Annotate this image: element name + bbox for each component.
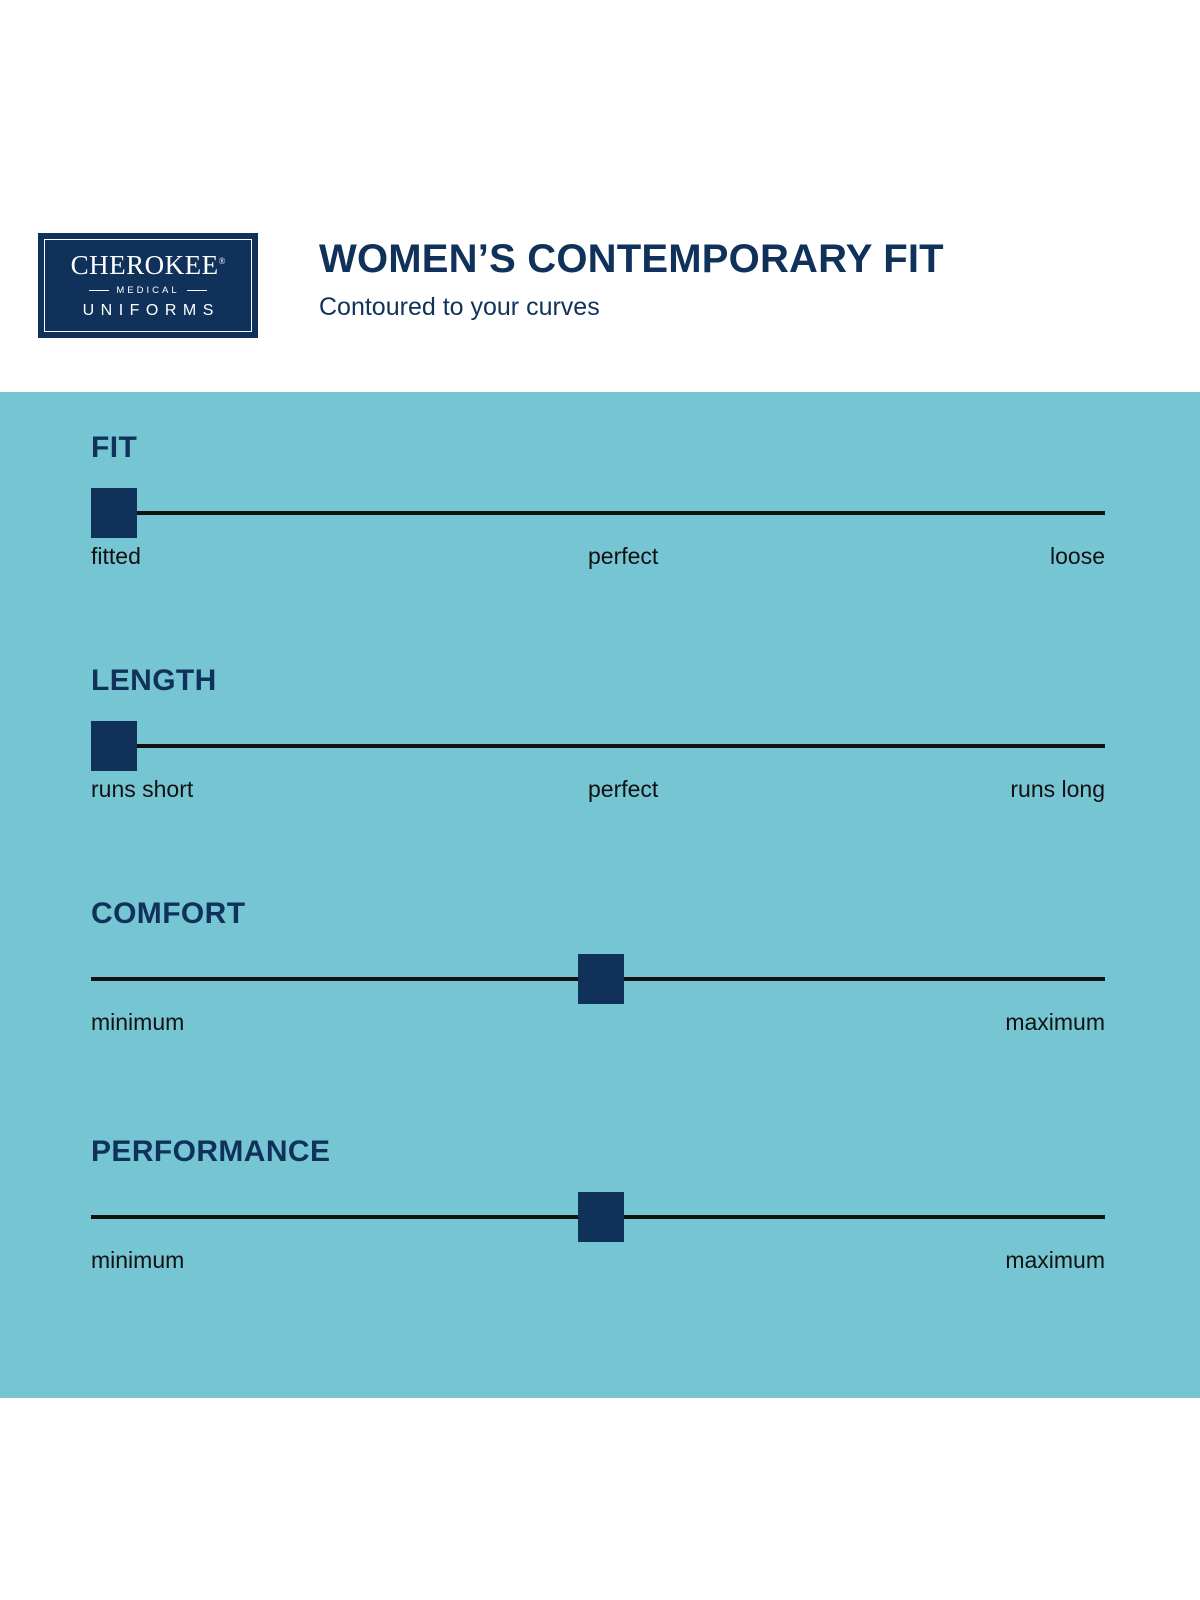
- logo-wordmark: CHEROKEE®: [71, 252, 226, 279]
- scale-label-right-comfort: maximum: [1005, 1009, 1105, 1037]
- scale-label-right-fit: loose: [1050, 543, 1105, 571]
- meter-heading-fit: FIT: [91, 433, 1105, 463]
- meter-heading-length: LENGTH: [91, 666, 1105, 696]
- logo-dash-right-icon: [187, 290, 207, 292]
- scale-label-left-performance: minimum: [91, 1247, 184, 1275]
- meter-comfort: COMFORT minimum maximum: [91, 899, 1105, 1043]
- slider-track-length[interactable]: [137, 744, 1105, 748]
- logo-uniforms-text: UNIFORMS: [76, 303, 220, 319]
- scale-fit: fitted perfect loose: [91, 543, 1105, 577]
- slider-handle-comfort[interactable]: [578, 954, 624, 1004]
- scale-label-right-length: runs long: [1010, 776, 1105, 804]
- slider-handle-fit[interactable]: [91, 488, 137, 538]
- logo-medical-text: MEDICAL: [116, 286, 179, 296]
- scale-comfort: minimum maximum: [91, 1009, 1105, 1043]
- page-subtitle: Contoured to your curves: [319, 294, 1119, 322]
- slider-handle-performance[interactable]: [578, 1192, 624, 1242]
- slider-handle-length[interactable]: [91, 721, 137, 771]
- meter-fit: FIT fitted perfect loose: [91, 433, 1105, 577]
- fit-meters-panel: FIT fitted perfect loose LENGTH runs sho…: [0, 392, 1200, 1398]
- logo-dash-left-icon: [89, 290, 109, 292]
- scale-label-mid-length: perfect: [588, 776, 658, 804]
- logo-medical-row: MEDICAL: [89, 286, 206, 296]
- meter-length: LENGTH runs short perfect runs long: [91, 666, 1105, 810]
- meter-heading-performance: PERFORMANCE: [91, 1137, 1105, 1167]
- scale-label-mid-fit: perfect: [588, 543, 658, 571]
- title-block: WOMEN’S CONTEMPORARY FIT Contoured to yo…: [319, 238, 1119, 322]
- meter-heading-comfort: COMFORT: [91, 899, 1105, 929]
- slider-track-fit[interactable]: [137, 511, 1105, 515]
- page-header: CHEROKEE® MEDICAL UNIFORMS WOMEN’S CONTE…: [0, 0, 1200, 392]
- meter-performance: PERFORMANCE minimum maximum: [91, 1137, 1105, 1281]
- scale-performance: minimum maximum: [91, 1247, 1105, 1281]
- scale-length: runs short perfect runs long: [91, 776, 1105, 810]
- slider-fit[interactable]: [91, 485, 1105, 541]
- slider-comfort[interactable]: [91, 951, 1105, 1007]
- cherokee-logo: CHEROKEE® MEDICAL UNIFORMS: [38, 233, 258, 338]
- logo-inner-border: CHEROKEE® MEDICAL UNIFORMS: [44, 239, 252, 332]
- registered-trademark-icon: ®: [219, 256, 226, 266]
- page-title: WOMEN’S CONTEMPORARY FIT: [319, 238, 1119, 280]
- slider-length[interactable]: [91, 718, 1105, 774]
- logo-wordmark-text: CHEROKEE: [71, 250, 219, 280]
- scale-label-right-performance: maximum: [1005, 1247, 1105, 1275]
- scale-label-left-comfort: minimum: [91, 1009, 184, 1037]
- scale-label-left-length: runs short: [91, 776, 193, 804]
- slider-performance[interactable]: [91, 1189, 1105, 1245]
- scale-label-left-fit: fitted: [91, 543, 141, 571]
